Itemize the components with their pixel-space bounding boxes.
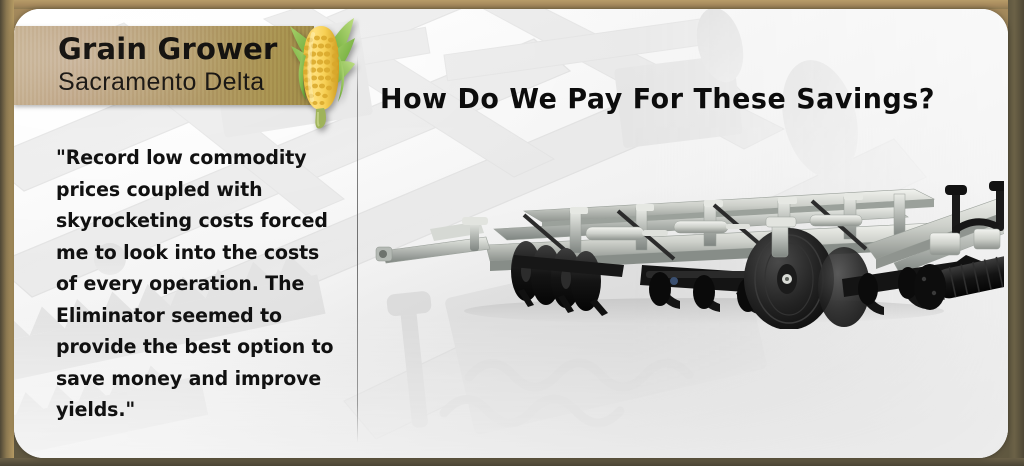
vertical-divider xyxy=(357,55,358,443)
quote-line: save money and improve xyxy=(56,363,337,395)
plaque-title: Grain Grower xyxy=(58,31,298,67)
quote-line: "Record low commodity xyxy=(56,142,337,174)
frame-bottom-edge xyxy=(0,458,1024,466)
tillage-implement-photo xyxy=(374,159,1004,329)
page-title: How Do We Pay For These Savings? xyxy=(380,82,956,116)
plaque-location: Sacramento Delta xyxy=(58,67,298,97)
quote-line: yields." xyxy=(56,394,337,426)
banner-stage: How Do We Pay For These Savings? "Record… xyxy=(0,0,1024,466)
quote-line: Eliminator seemed to xyxy=(56,300,337,332)
testimonial-card: How Do We Pay For These Savings? "Record… xyxy=(14,9,1008,458)
quote-line: prices coupled with xyxy=(56,174,337,206)
testimonial-quote: "Record low commodity prices coupled wit… xyxy=(56,142,337,426)
quote-line: me to look into the costs xyxy=(56,237,337,269)
quote-line: skyrocketing costs forced xyxy=(56,205,337,237)
corn-cob-icon xyxy=(286,14,356,132)
frame-left-edge xyxy=(0,0,14,466)
frame-top-edge xyxy=(0,0,1024,9)
frame-right-edge xyxy=(1008,0,1024,466)
grower-plaque: Grain Grower Sacramento Delta xyxy=(14,26,314,105)
quote-line: of every operation. The xyxy=(56,268,337,300)
quote-line: provide the best option to xyxy=(56,331,337,363)
